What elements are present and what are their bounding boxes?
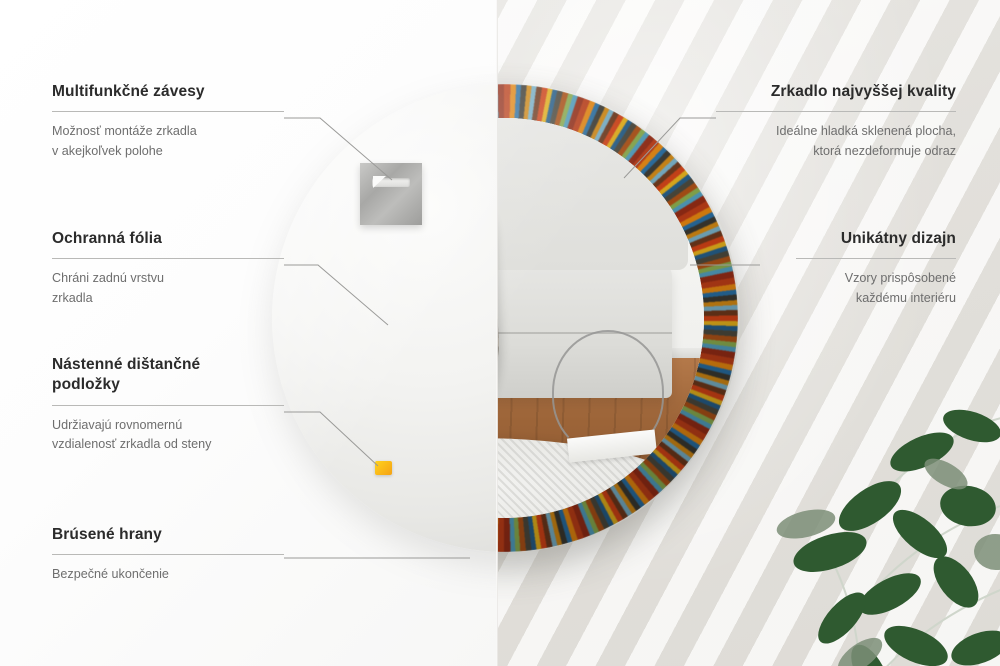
callout-desc-line: ktorá nezdeformuje odraz [716, 142, 956, 162]
callout-title: Zrkadlo najvyššej kvality [716, 82, 956, 102]
spacer-pad [375, 461, 392, 475]
callout-desc: Udržiavajú rovnomernú vzdialenosť zrkadl… [52, 416, 284, 455]
callout-desc-line: Ideálne hladká sklenená plocha, [716, 122, 956, 142]
callout-title: Ochranná fólia [52, 229, 284, 249]
mirror-glass [497, 118, 704, 518]
callout-rule [52, 111, 284, 112]
leaf-branches-icon [710, 356, 1000, 666]
callout-title: Brúsené hrany [52, 525, 284, 545]
callout-rule [52, 258, 284, 259]
callout-rule [716, 111, 956, 112]
hanger-plate [360, 163, 422, 225]
callout-desc-line: Vzory prispôsobené [796, 269, 956, 289]
callout-nastenne-distancne-podlozky: Nástenné dištančné podložky Udržiavajú r… [52, 355, 284, 455]
callout-desc-line: zrkadla [52, 289, 284, 309]
callout-title-line: podložky [52, 375, 284, 395]
layout-seam [496, 0, 498, 666]
callout-ochranna-folia: Ochranná fólia Chráni zadnú vrstvu zrkad… [52, 229, 284, 308]
callout-desc: Chráni zadnú vrstvu zrkadla [52, 269, 284, 308]
round-mirror [497, 84, 738, 552]
callout-rule [796, 258, 956, 259]
callout-rule [52, 554, 284, 555]
callout-desc: Možnosť montáže zrkadla v akejkoľvek pol… [52, 122, 284, 161]
callout-desc-line: Bezpečné ukončenie [52, 565, 284, 585]
callout-desc-line: Chráni zadnú vrstvu [52, 269, 284, 289]
callout-rule [52, 405, 284, 406]
callout-desc: Bezpečné ukončenie [52, 565, 284, 585]
callout-title: Unikátny dizajn [796, 229, 956, 249]
callout-desc-line: vzdialenosť zrkadla od steny [52, 435, 284, 455]
callout-unikatny-dizajn: Unikátny dizajn Vzory prispôsobené každé… [796, 229, 956, 308]
callout-zrkadlo-najvyssej-kvality: Zrkadlo najvyššej kvality Ideálne hladká… [716, 82, 956, 161]
callout-title: Multifunkčné závesy [52, 82, 284, 102]
callout-desc-line: Udržiavajú rovnomernú [52, 416, 284, 436]
infographic-canvas: Multifunkčné závesy Možnosť montáže zrka… [0, 0, 1000, 666]
callout-multifunkcne-zavesy: Multifunkčné závesy Možnosť montáže zrka… [52, 82, 284, 161]
callout-title: Nástenné dištančné podložky [52, 355, 284, 396]
callout-desc-line: v akejkoľvek polohe [52, 142, 284, 162]
callout-desc-line: Možnosť montáže zrkadla [52, 122, 284, 142]
callout-desc: Ideálne hladká sklenená plocha, ktorá ne… [716, 122, 956, 161]
callout-desc-line: každému interiéru [796, 289, 956, 309]
callout-brusene-hrany: Brúsené hrany Bezpečné ukončenie [52, 525, 284, 585]
callout-desc: Vzory prispôsobené každému interiéru [796, 269, 956, 308]
callout-title-line: Nástenné dištančné [52, 355, 284, 375]
